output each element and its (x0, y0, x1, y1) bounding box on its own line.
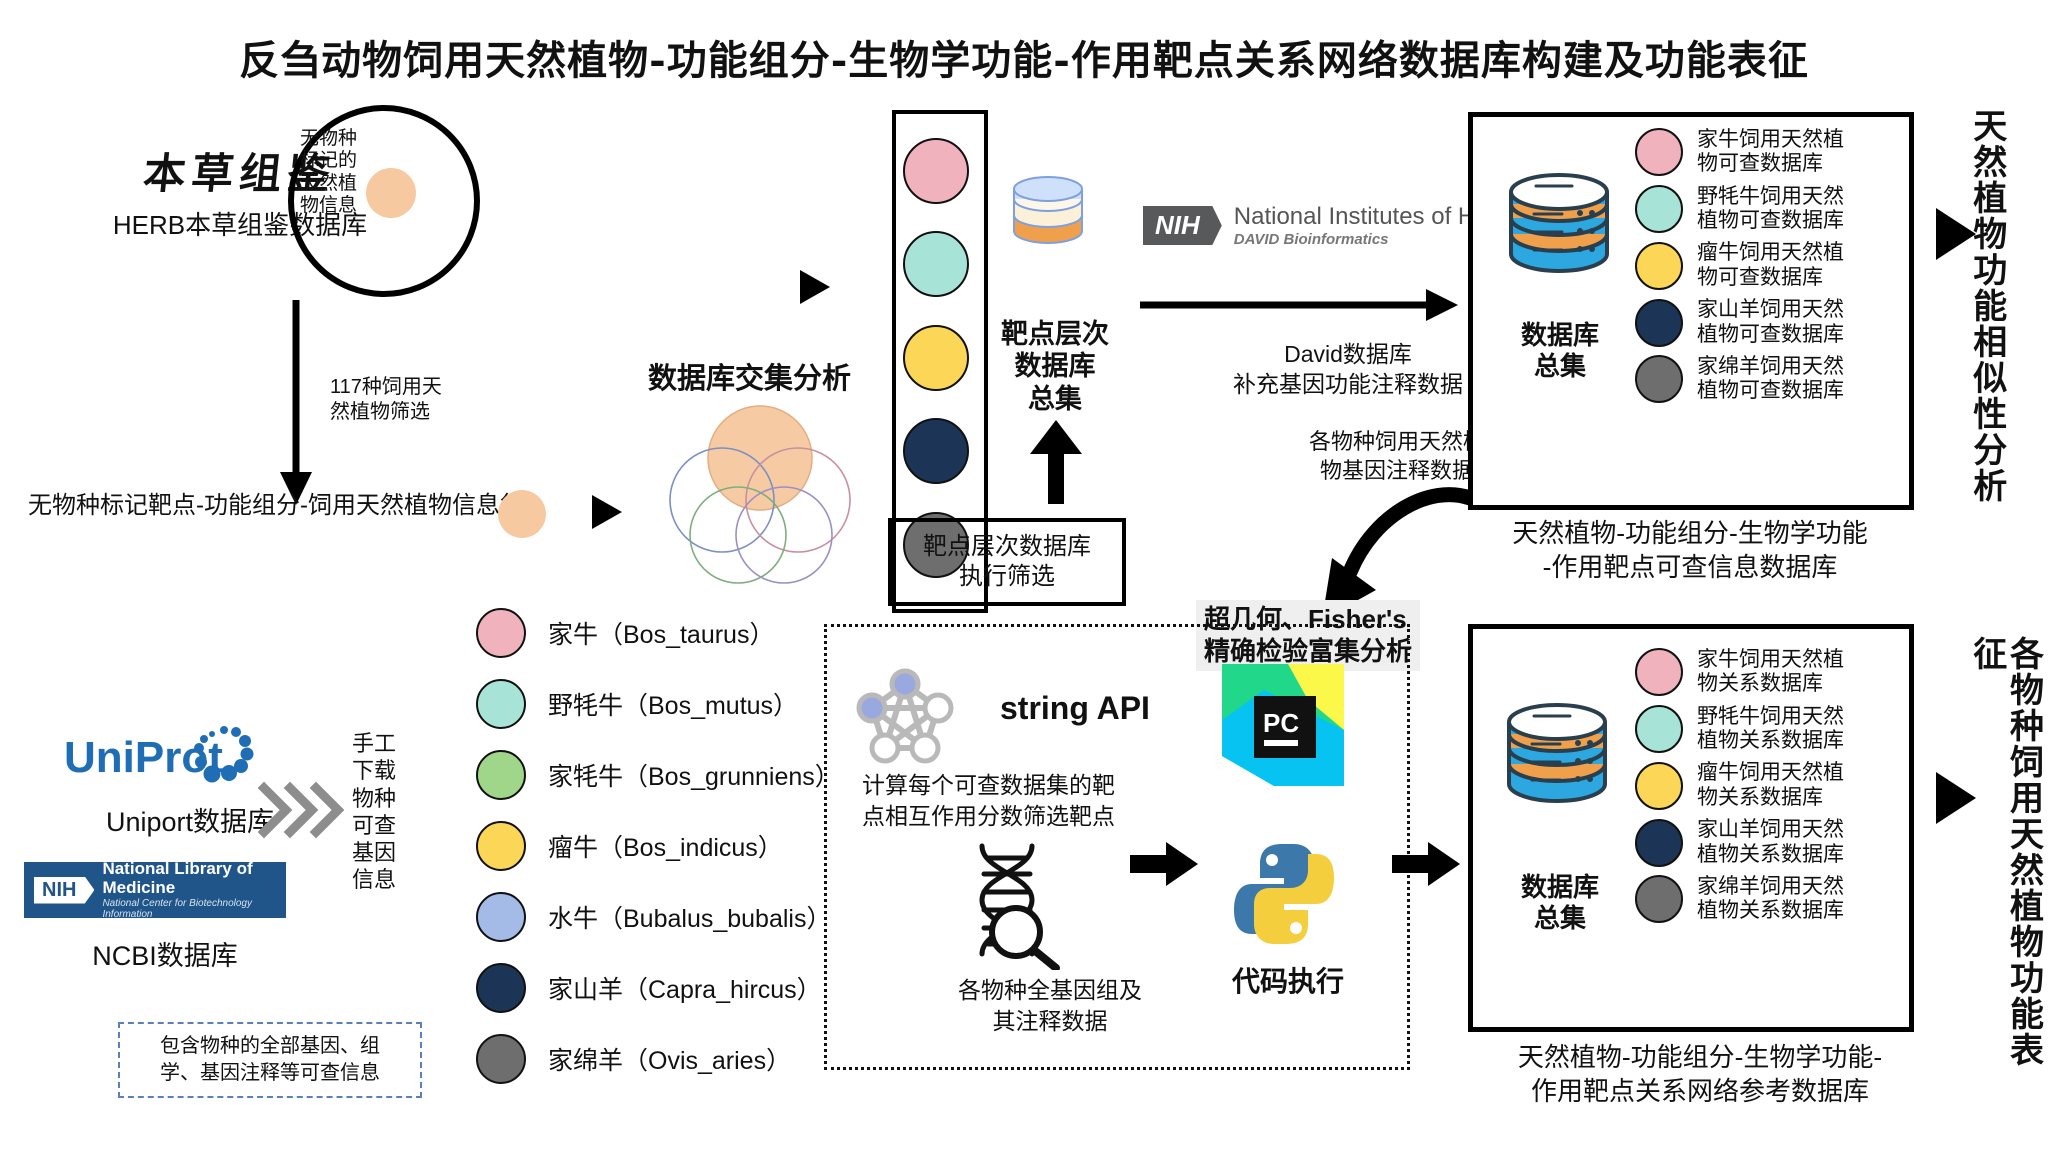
species-name-label: 家山羊（Capra_hircus） (548, 970, 822, 1006)
db-stack-icon-bottom (1498, 700, 1616, 815)
panel-top-item-row: 野牦牛饲用天然 植物可查数据库 (1635, 185, 1893, 234)
species-name-label: 野牦牛（Bos_mutus） (548, 686, 798, 722)
panel-top-item-label: 瘤牛饲用天然植 物可查数据库 (1697, 241, 1844, 290)
species-legend: 家牛（Bos_taurus）野牦牛（Bos_mutus）家牦牛（Bos_grun… (476, 608, 840, 1084)
panel-top-item-list: 家牛饲用天然植 物可查数据库野牦牛饲用天然 植物可查数据库瘤牛饲用天然植 物可查… (1635, 128, 1893, 412)
target-filter-box-label: 靶点层次数据库 执行筛选 (923, 532, 1091, 592)
target-db-total-label: 靶点层次 数据库 总集 (1000, 318, 1110, 415)
species-legend-row: 野牦牛（Bos_mutus） (476, 679, 840, 729)
panel-bottom-item-row: 家绵羊饲用天然 植物关系数据库 (1635, 875, 1893, 924)
chevrons-right-icon (258, 778, 344, 847)
arrow-right-to-venn (592, 495, 622, 529)
species-legend-row: 家绵羊（Ovis_aries） (476, 1034, 840, 1084)
species-color-dot (476, 750, 526, 800)
genome-data-caption: 各物种全基因组及 其注释数据 (880, 975, 1220, 1037)
panel-top-item-label: 家绵羊饲用天然 植物可查数据库 (1697, 355, 1844, 404)
unlabeled-target-infoset-label: 无物种标记靶点-功能组分-饲用天然植物信息集 (28, 485, 524, 520)
panel-bottom-item-color-dot (1635, 648, 1683, 696)
panel-top-item-color-dot (1635, 242, 1683, 290)
pycharm-logo-icon: PC (1218, 660, 1348, 795)
page-title: 反刍动物饲用天然植物-功能组分-生物学功能-作用靶点关系网络数据库构建及功能表征 (0, 28, 2048, 86)
species-color-dot (476, 821, 526, 871)
panel-bottom-item-label: 家绵羊饲用天然 植物关系数据库 (1697, 875, 1844, 924)
species-color-dot (476, 608, 526, 658)
panel-bottom-item-row: 瘤牛饲用天然植 物关系数据库 (1635, 761, 1893, 810)
panel-bottom-item-row: 家牛饲用天然植 物关系数据库 (1635, 648, 1893, 697)
panel-top-item-row: 家山羊饲用天然 植物可查数据库 (1635, 298, 1893, 347)
species-name-label: 家牛（Bos_taurus） (548, 615, 774, 651)
species-legend-row: 家牦牛（Bos_grunniens） (476, 750, 840, 800)
species-color-dot (476, 892, 526, 942)
panel-bottom-item-row: 家山羊饲用天然 植物关系数据库 (1635, 818, 1893, 867)
ncbi-note-label: 包含物种的全部基因、组 学、基因注释等可查信息 (160, 1033, 380, 1087)
arrow-right-to-bottom-panel (1392, 840, 1462, 893)
species-legend-row: 家牛（Bos_taurus） (476, 608, 840, 658)
panel-bottom-item-label: 家牛饲用天然植 物关系数据库 (1697, 648, 1844, 697)
uniprot-logo: UniProt (60, 716, 260, 801)
target-dot-4 (903, 418, 969, 484)
string-network-icon (850, 660, 960, 775)
vertical-label-similarity: 天然植物功能相似性分析 (1968, 108, 2005, 508)
panel-top-item-color-dot (1635, 185, 1683, 233)
venn-diagram (660, 400, 860, 595)
panel-top-item-row: 瘤牛饲用天然植 物可查数据库 (1635, 241, 1893, 290)
panel-top-item-label: 野牦牛饲用天然 植物可查数据库 (1697, 185, 1844, 234)
species-legend-row: 家山羊（Capra_hircus） (476, 963, 840, 1013)
target-dot-3 (903, 325, 969, 391)
arrow-right-to-pycharm (1130, 840, 1200, 893)
ncbi-note-box: 包含物种的全部基因、组 学、基因注释等可查信息 (118, 1022, 422, 1098)
code-exec-label: 代码执行 (1218, 960, 1358, 1000)
nlm-subtitle: National Center for Biotechnology Inform… (102, 898, 286, 920)
panel-bottom-item-row: 野牦牛饲用天然 植物关系数据库 (1635, 705, 1893, 754)
species-name-label: 家绵羊（Ovis_aries） (548, 1041, 791, 1077)
arrow-right-david (1140, 285, 1460, 330)
db-stack-icon-top (1500, 170, 1618, 285)
panel-top-caption: 天然植物-功能组分-生物学功能 -作用靶点可查信息数据库 (1450, 518, 1930, 586)
python-logo-icon (1228, 838, 1340, 955)
panel-top-item-label: 家山羊饲用天然 植物可查数据库 (1697, 298, 1844, 347)
target-dot-1 (903, 138, 969, 204)
species-legend-row: 瘤牛（Bos_indicus） (476, 821, 840, 871)
panel-bottom-item-label: 野牦牛饲用天然 植物关系数据库 (1697, 705, 1844, 754)
nlm-title: National Library of Medicine (102, 860, 286, 897)
nih-badge: NIH (1143, 206, 1222, 245)
species-legend-row: 水牛（Bubalus_bubalis） (476, 892, 840, 942)
species-name-label: 水牛（Bubalus_bubalis） (548, 899, 831, 935)
species-color-dot (476, 963, 526, 1013)
ncbi-nlm-logo: NIH National Library of Medicine Nationa… (24, 862, 286, 918)
species-name-label: 家牦牛（Bos_grunniens） (548, 757, 840, 793)
species-color-dot (476, 679, 526, 729)
nih-badge-ncbi: NIH (34, 877, 94, 904)
string-api-caption: 计算每个可查数据集的靶 点相互作用分数筛选靶点 (862, 770, 1262, 832)
panel-top-item-label: 家牛饲用天然植 物可查数据库 (1697, 128, 1844, 177)
vertical-label-characterization: 各物种饲用天然植物功能表征 (1968, 636, 2041, 1076)
panel-bottom-item-color-dot (1635, 819, 1683, 867)
panel-bottom-item-label: 瘤牛饲用天然植 物关系数据库 (1697, 761, 1844, 810)
panel-bottom-item-color-dot (1635, 875, 1683, 923)
species-name-label: 瘤牛（Bos_indicus） (548, 828, 783, 864)
arrow-right-to-target-column (800, 270, 830, 304)
panel-top-item-color-dot (1635, 128, 1683, 176)
arrow-down-to-infoset (276, 300, 316, 515)
venn-title: 数据库交集分析 (648, 355, 851, 397)
panel-bottom-db-label: 数据库 总集 (1498, 872, 1622, 934)
panel-top-item-color-dot (1635, 355, 1683, 403)
target-filter-box: 靶点层次数据库 执行筛选 (888, 518, 1126, 606)
peach-dot-in-circle (366, 168, 416, 218)
panel-bottom-item-label: 家山羊饲用天然 植物关系数据库 (1697, 818, 1844, 867)
panel-top-item-color-dot (1635, 299, 1683, 347)
species-color-dot (476, 1034, 526, 1084)
panel-bottom-item-list: 家牛饲用天然植 物关系数据库野牦牛饲用天然 植物关系数据库瘤牛饲用天然植 物关系… (1635, 648, 1893, 932)
target-dot-2 (903, 231, 969, 297)
manual-download-label: 手工 下载 物种 可查 基因 信息 (352, 730, 396, 894)
panel-top-db-label: 数据库 总集 (1498, 320, 1622, 382)
david-caption: David数据库 补充基因功能注释数据 (1218, 340, 1478, 400)
database-cylinder-light-icon (1008, 175, 1088, 262)
dna-search-icon (940, 840, 1070, 975)
ncbi-caption: NCBI数据库 (40, 934, 290, 973)
panel-bottom-item-color-dot (1635, 762, 1683, 810)
panel-top-item-row: 家绵羊饲用天然 植物可查数据库 (1635, 355, 1893, 404)
peach-dot-infoset (498, 490, 546, 538)
arrow-up-from-filter (1028, 420, 1084, 509)
panel-bottom-caption: 天然植物-功能组分-生物学功能- 作用靶点关系网络参考数据库 (1450, 1042, 1950, 1110)
panel-bottom-item-color-dot (1635, 705, 1683, 753)
pycharm-glyph-text: PC (1263, 708, 1299, 738)
panel-top-item-row: 家牛饲用天然植 物可查数据库 (1635, 128, 1893, 177)
string-api-label: string API (1000, 690, 1150, 727)
screen-117-label: 117种饲用天 然植物筛选 (330, 375, 442, 425)
